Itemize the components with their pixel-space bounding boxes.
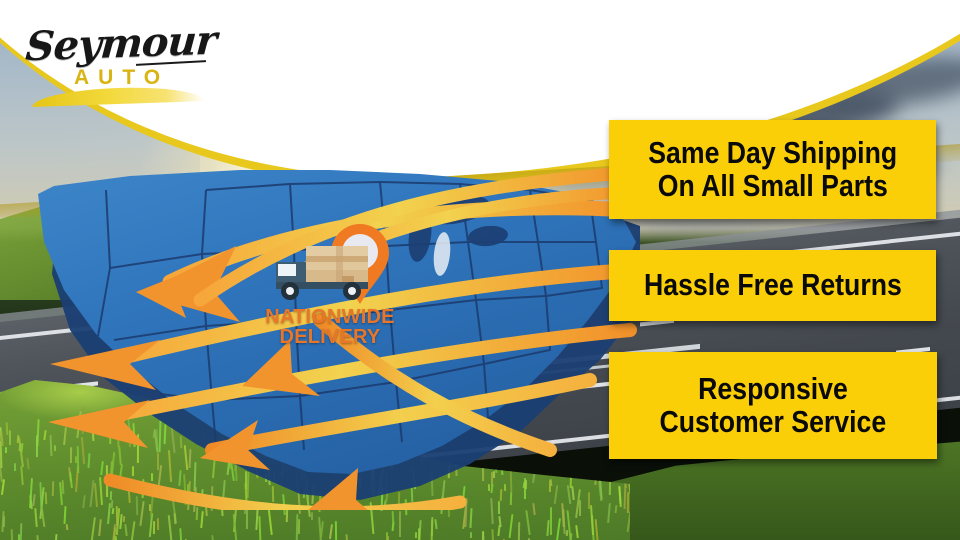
banner-same-day-shipping[interactable]: Same Day Shipping On All Small Parts xyxy=(609,120,936,219)
grass-blade xyxy=(233,514,238,540)
grass-blade xyxy=(54,534,57,540)
grass-blade xyxy=(123,516,126,522)
grass-blade xyxy=(211,535,215,540)
grass-blade xyxy=(509,514,514,538)
banner-line: On All Small Parts xyxy=(657,170,887,203)
grass-blade xyxy=(434,519,437,529)
banner-line: Responsive xyxy=(698,373,848,406)
banner-line: Hassle Free Returns xyxy=(644,269,902,302)
grass-blade xyxy=(258,516,261,540)
grass-blade xyxy=(518,522,521,540)
callout-line-1: NATIONWIDE xyxy=(255,307,405,327)
callout-line-2: DELIVERY xyxy=(255,327,405,347)
grass-blade xyxy=(431,517,434,540)
grass-blade xyxy=(329,524,333,539)
grass-blade xyxy=(491,529,494,540)
grass-blade xyxy=(34,508,37,527)
grass-blade xyxy=(168,515,173,540)
grass-blade xyxy=(418,528,420,540)
grass-blade xyxy=(345,534,348,540)
grass-blade xyxy=(335,521,337,540)
grass-blade xyxy=(595,519,600,540)
brand-logo[interactable]: Seymour AUTO xyxy=(18,14,218,100)
grass-blade xyxy=(124,524,127,536)
grass-blade xyxy=(296,514,299,540)
brand-subtitle: AUTO xyxy=(74,66,169,90)
grass-blade xyxy=(20,523,23,540)
grass-blade xyxy=(320,521,324,537)
banner-hassle-free-returns[interactable]: Hassle Free Returns xyxy=(609,250,936,321)
grass-blade xyxy=(415,532,417,538)
grass-blade xyxy=(399,511,401,537)
grass-blade xyxy=(90,517,96,540)
arrow-head xyxy=(48,400,150,448)
grass-blade xyxy=(570,533,573,540)
grass-blade xyxy=(298,519,300,534)
grass-blade xyxy=(525,510,530,535)
grass-blade xyxy=(98,519,102,536)
grass-blade xyxy=(200,511,204,528)
banner-line: Customer Service xyxy=(660,406,887,439)
grass-blade xyxy=(469,508,472,528)
promo-banner-stage: Seymour AUTO xyxy=(0,0,960,540)
grass-blade xyxy=(153,521,155,534)
grass-blade xyxy=(66,524,69,530)
grass-blade xyxy=(131,521,136,540)
cargo-box xyxy=(306,246,368,288)
grass-blade xyxy=(11,529,14,540)
grass-blade xyxy=(575,525,579,538)
delivery-truck-graphic xyxy=(262,218,402,318)
grass-blade xyxy=(498,516,501,527)
banner-line: Same Day Shipping xyxy=(648,137,897,170)
grass-blade xyxy=(157,518,159,530)
nationwide-delivery-callout: NATIONWIDE DELIVERY xyxy=(255,307,405,348)
grass-blade xyxy=(179,528,182,540)
grass-blade xyxy=(481,536,484,540)
grass-blade xyxy=(3,516,5,527)
grass-blade xyxy=(555,518,561,540)
grass-blade xyxy=(470,532,472,538)
grass-blade xyxy=(392,511,395,525)
grass-blade xyxy=(550,507,552,535)
grass-blade xyxy=(311,512,313,520)
banner-responsive-customer-service[interactable]: Responsive Customer Service xyxy=(609,352,937,459)
grass-blade xyxy=(36,535,39,540)
grass-blade xyxy=(387,536,389,540)
